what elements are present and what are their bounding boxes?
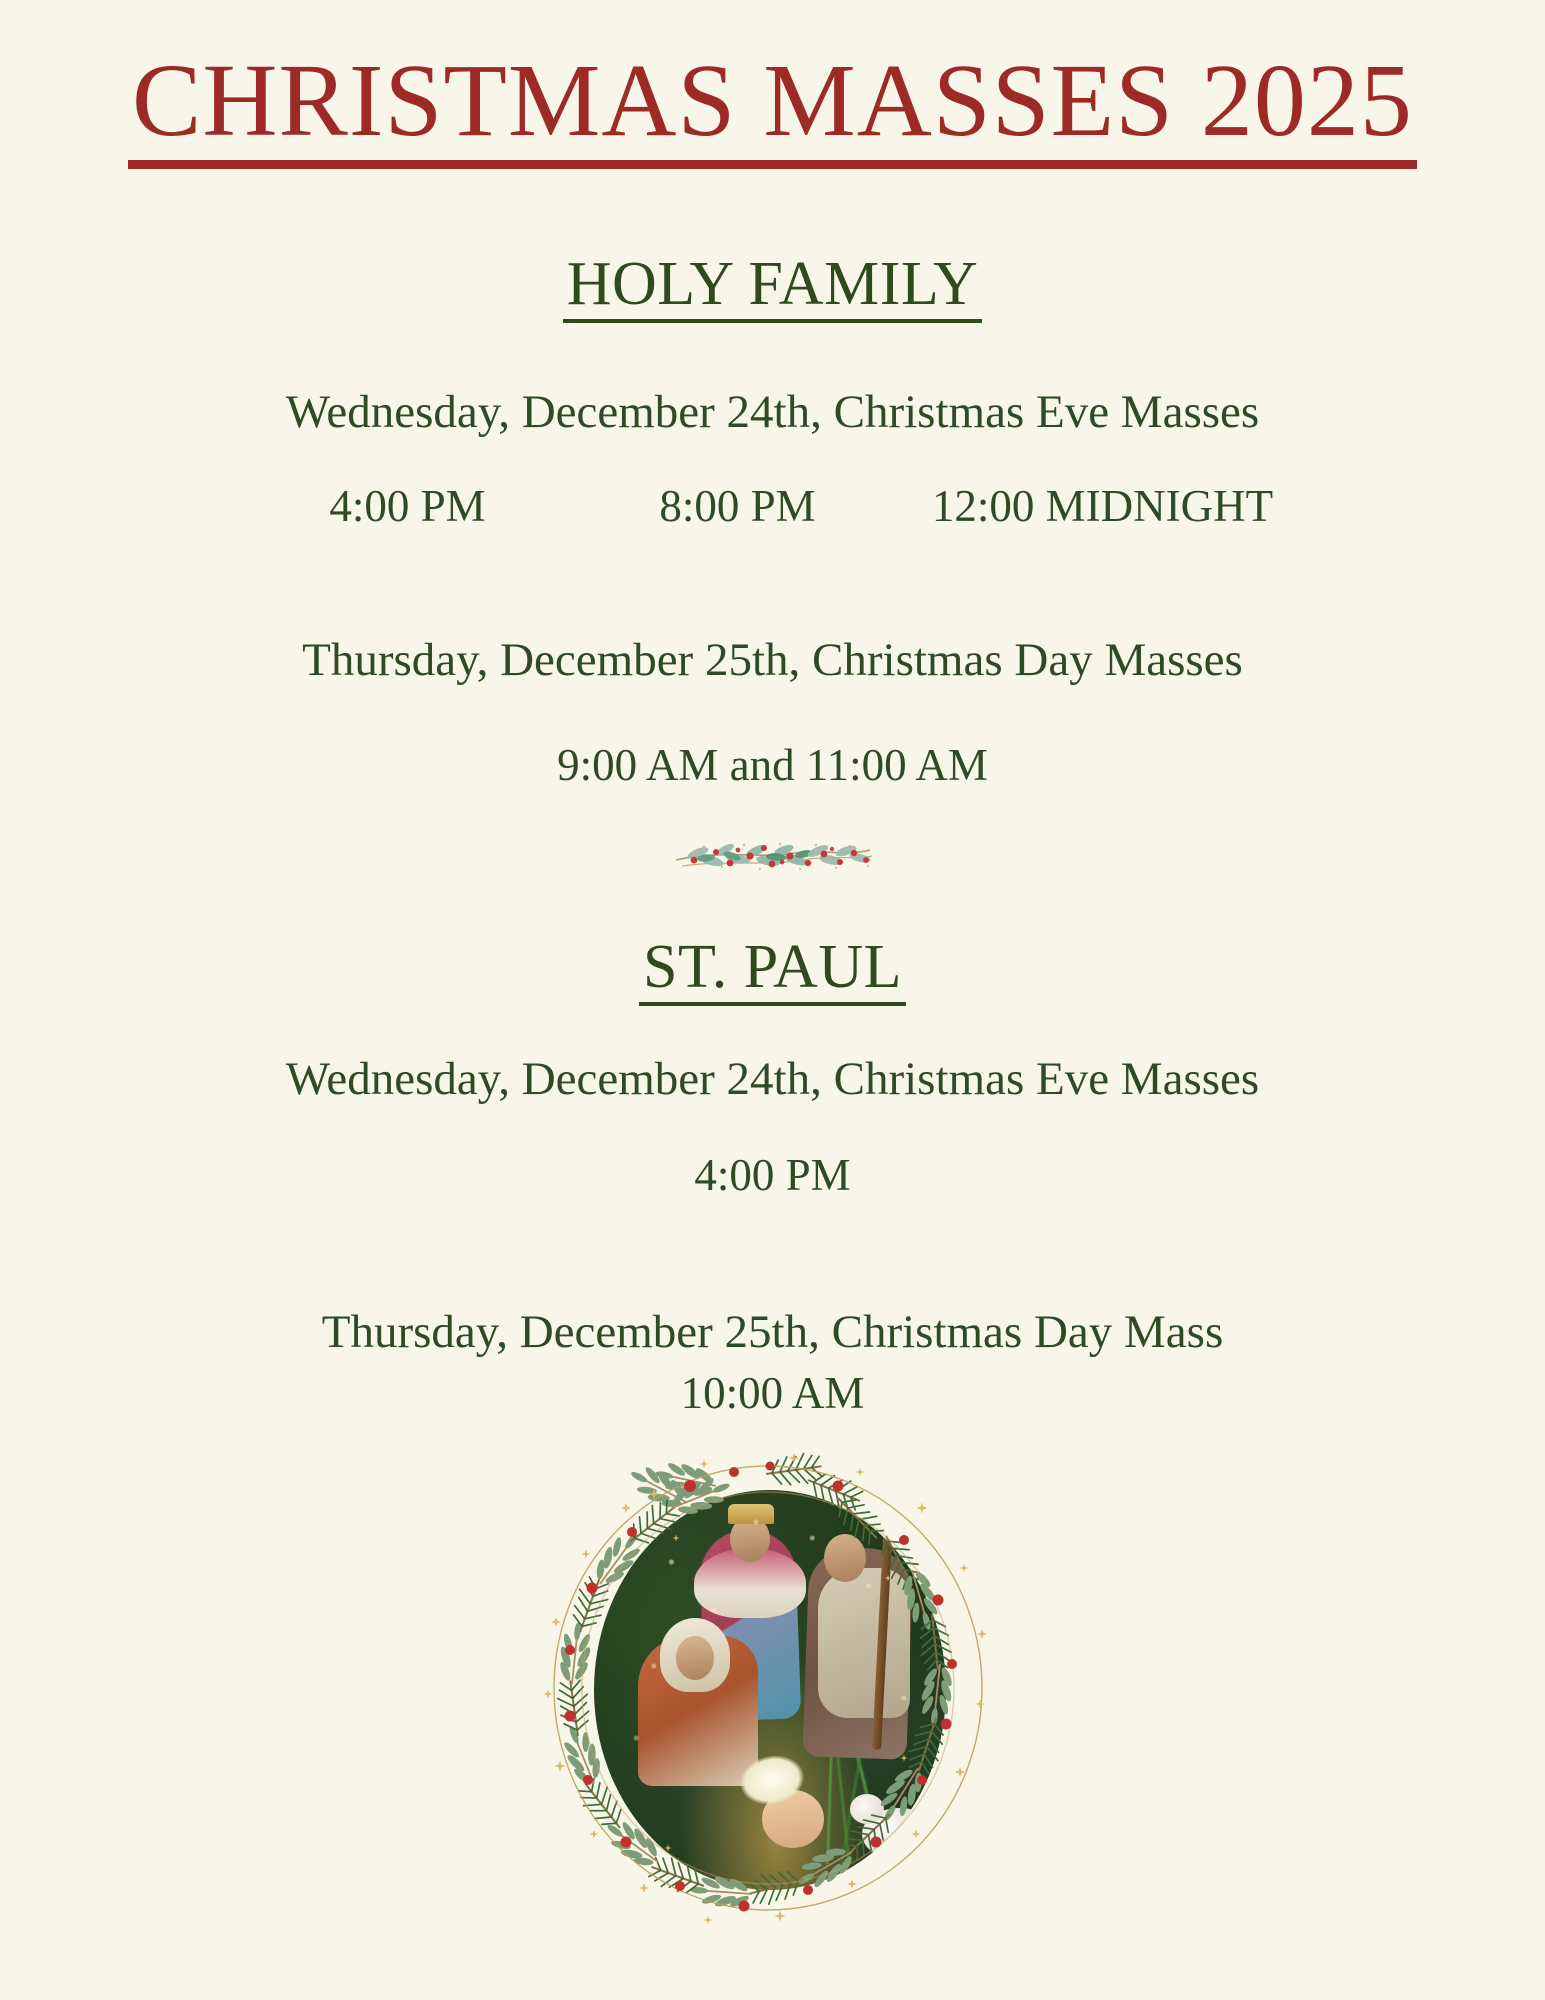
holy-family-christmas-eve-description: Wednesday, December 24th, Christmas Eve …: [0, 385, 1545, 439]
section-heading-holy-family: HOLY FAMILY: [0, 252, 1545, 323]
holy-family-christmas-day-times: 9:00 AM and 11:00 AM: [0, 740, 1545, 792]
page-title-container: CHRISTMAS MASSES 2025: [0, 48, 1545, 169]
nativity-figure-container: [508, 1428, 1028, 1948]
holy-family-eve-time-3: 12:00 MIDNIGHT: [903, 480, 1303, 532]
st-paul-christmas-day-description: Thursday, December 25th, Christmas Day M…: [0, 1305, 1545, 1359]
christmas-mass-flyer: CHRISTMAS MASSES 2025 HOLY FAMILY Wednes…: [0, 0, 1545, 2000]
st-paul-christmas-eve-times: 4:00 PM: [0, 1150, 1545, 1202]
page-title: CHRISTMAS MASSES 2025: [128, 48, 1417, 169]
section-heading-holy-family-label: HOLY FAMILY: [563, 252, 983, 323]
holy-family-christmas-eve-times: 4:00 PM 8:00 PM 12:00 MIDNIGHT: [0, 480, 1545, 532]
section-heading-st-paul: ST. PAUL: [0, 935, 1545, 1006]
nativity-scene-wreath-photo-icon: [508, 1428, 1028, 1948]
section-heading-st-paul-label: ST. PAUL: [639, 935, 906, 1006]
holly-berry-sprig-divider-icon: [668, 826, 878, 882]
holy-family-eve-time-2: 8:00 PM: [573, 480, 903, 532]
nativity-bokeh-lights: [594, 1490, 946, 1890]
st-paul-christmas-eve-description: Wednesday, December 24th, Christmas Eve …: [0, 1052, 1545, 1106]
st-paul-christmas-day-times: 10:00 AM: [0, 1368, 1545, 1420]
divider-container: [0, 826, 1545, 887]
nativity-photo: [594, 1490, 946, 1890]
holy-family-eve-time-1: 4:00 PM: [243, 480, 573, 532]
holy-family-christmas-day-description: Thursday, December 25th, Christmas Day M…: [0, 633, 1545, 687]
